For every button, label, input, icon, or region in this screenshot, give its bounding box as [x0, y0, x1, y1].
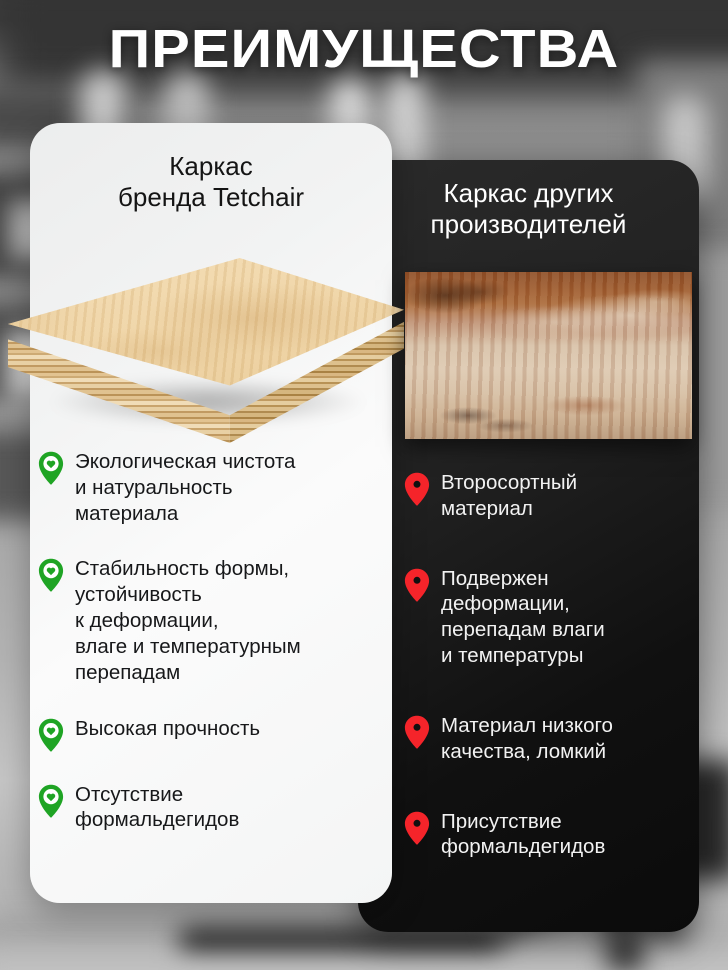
list-item-label: Присутствие формальдегидов [441, 809, 605, 861]
green-heart-pin-icon [38, 718, 64, 752]
list-item-label: Экологическая чистота и натуральность ма… [75, 449, 295, 526]
list-item-label: Высокая прочность [75, 716, 260, 742]
list-item: Присутствие формальдегидов [404, 809, 685, 861]
promo-banner: ПРЕИМУЩЕСТВА Каркас других производителе… [0, 0, 728, 970]
plywood-sheet-image [8, 258, 404, 443]
list-item: Стабильность формы, устойчивость к дефор… [38, 556, 378, 685]
list-item: Материал низкого качества, ломкий [404, 713, 685, 765]
weathered-wood-texture [405, 272, 692, 439]
list-item: Подвержен деформации, перепадам влаги и … [404, 566, 685, 669]
brand-card-title: Каркас бренда Tetchair [30, 151, 392, 212]
list-item-label: Стабильность формы, устойчивость к дефор… [75, 556, 301, 685]
list-item-label: Материал низкого качества, ломкий [441, 713, 613, 765]
red-pin-icon [404, 472, 430, 506]
brand-feature-list: Экологическая чистота и натуральность ма… [30, 449, 392, 863]
green-heart-pin-icon [38, 558, 64, 592]
background-chair-leg-3 [607, 930, 643, 970]
red-pin-icon [404, 811, 430, 845]
green-heart-pin-icon [38, 451, 64, 485]
list-item-label: Второсортный материал [441, 470, 577, 522]
weathered-wood-image [405, 272, 692, 439]
red-pin-icon [404, 715, 430, 749]
green-heart-pin-icon [38, 784, 64, 818]
red-pin-icon [404, 568, 430, 602]
competitor-feature-list: Второсортный материал Подвержен деформац… [358, 470, 699, 904]
list-item: Отсутствие формальдегидов [38, 782, 378, 834]
list-item-label: Подвержен деформации, перепадам влаги и … [441, 566, 605, 669]
list-item: Высокая прочность [38, 716, 378, 752]
list-item: Экологическая чистота и натуральность ма… [38, 449, 378, 526]
competitor-card-title: Каркас других производителей [358, 178, 699, 239]
list-item: Второсортный материал [404, 470, 685, 522]
page-title: ПРЕИМУЩЕСТВА [0, 18, 728, 80]
list-item-label: Отсутствие формальдегидов [75, 782, 239, 834]
